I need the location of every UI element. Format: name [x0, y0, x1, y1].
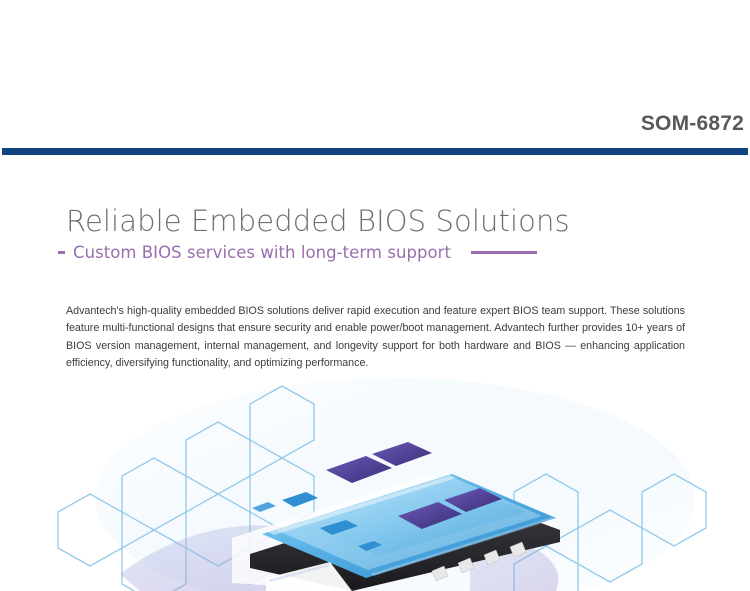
- page-title: Reliable Embedded BIOS Solutions: [66, 204, 570, 238]
- page-subtitle: Custom BIOS services with long-term supp…: [73, 243, 451, 262]
- subtitle-row: Custom BIOS services with long-term supp…: [58, 243, 537, 262]
- illustration-artwork: [0, 378, 750, 591]
- header-divider-rule: [2, 148, 748, 155]
- subtitle-dash-marker: [58, 251, 65, 254]
- product-model-name: SOM-6872: [641, 112, 744, 136]
- body-paragraph: Advantech's high-quality embedded BIOS s…: [66, 303, 685, 373]
- bios-architecture-illustration: Power Management Fast Boot BIOS Suite St…: [0, 378, 750, 591]
- subtitle-accent-rule: [471, 251, 537, 254]
